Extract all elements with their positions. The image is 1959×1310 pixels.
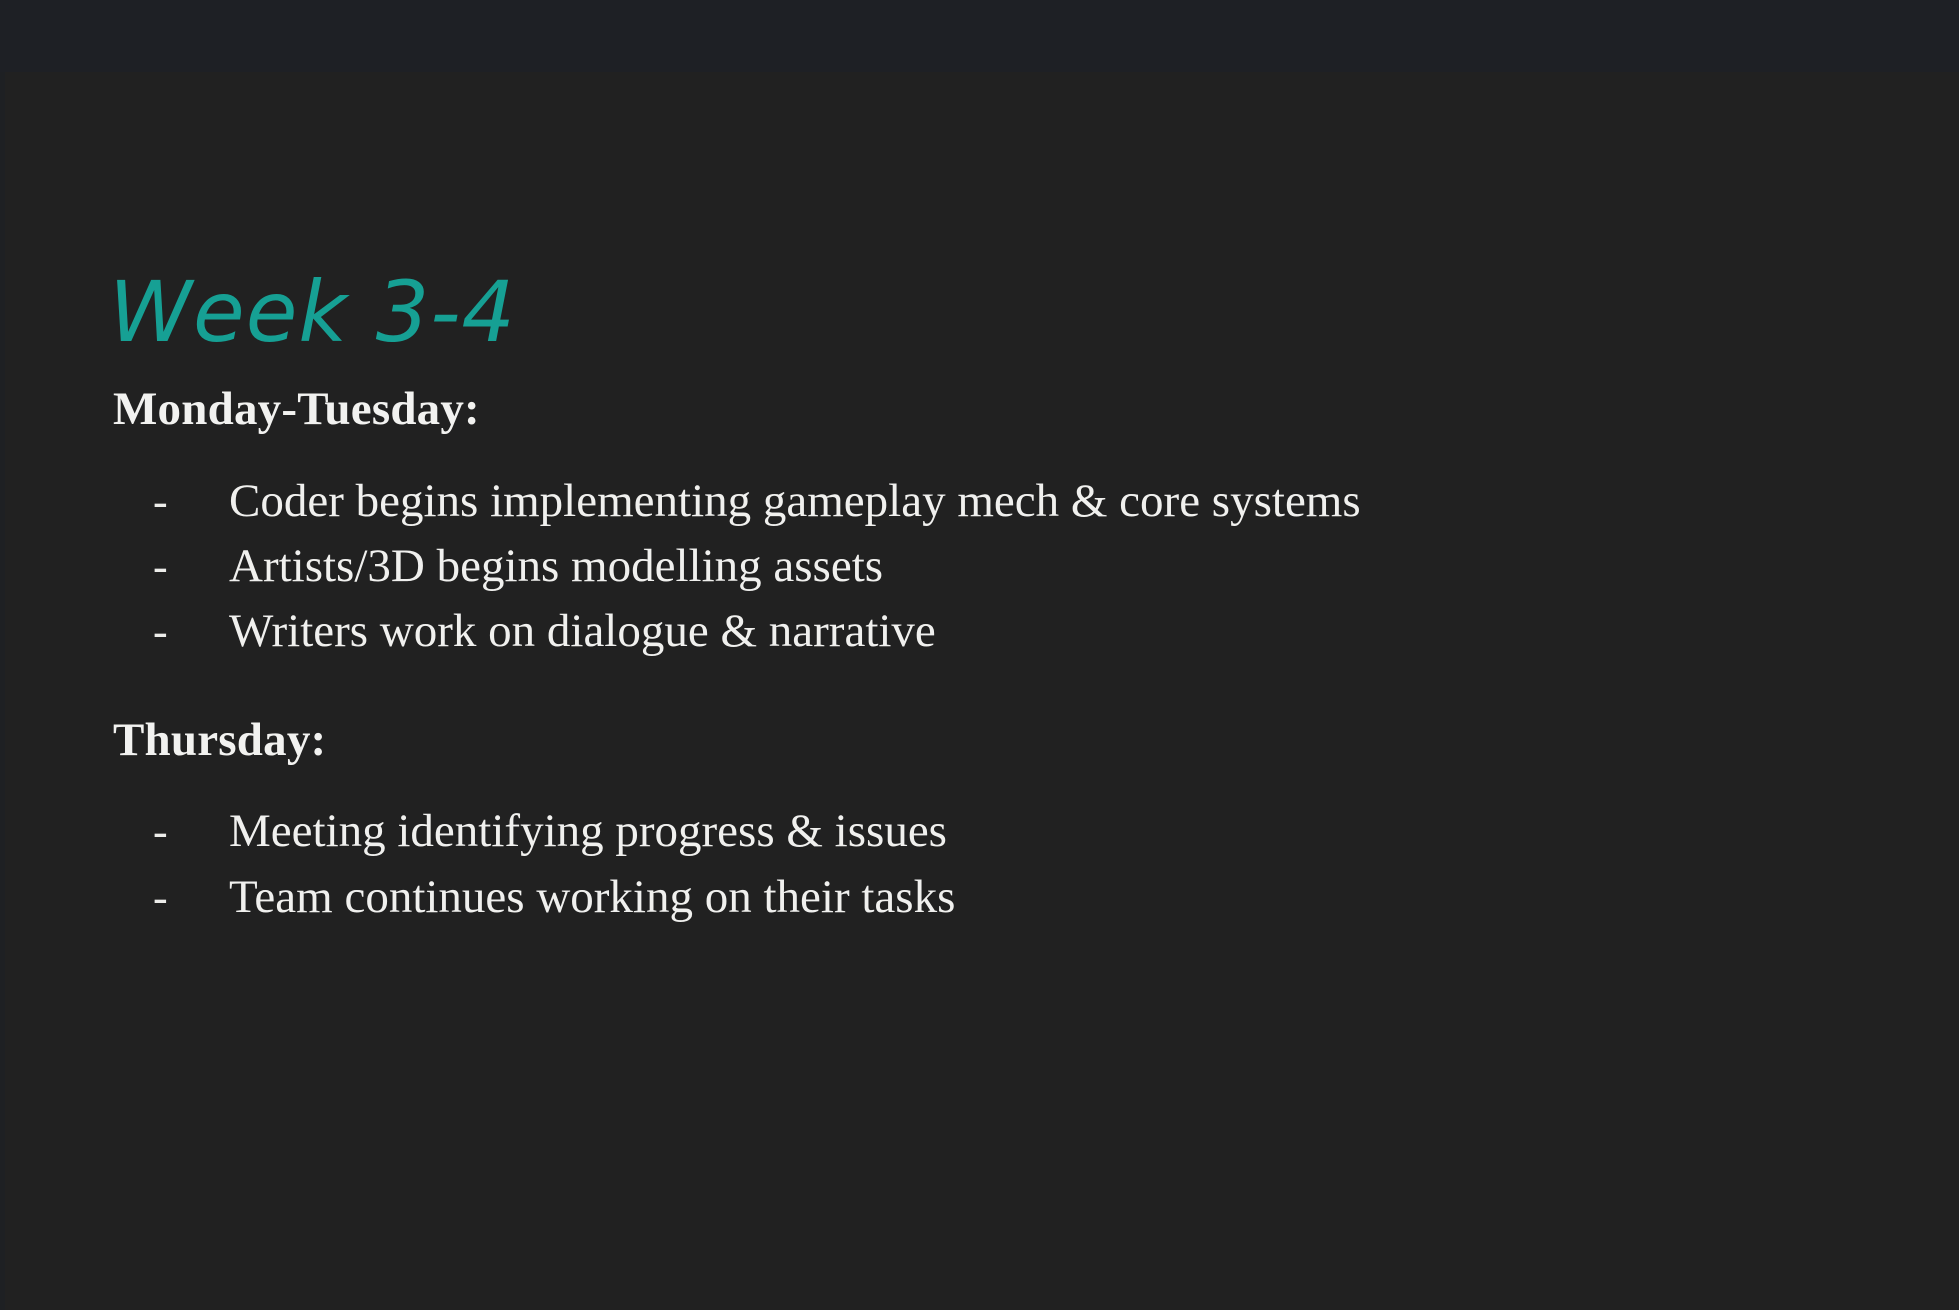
spacer [5, 435, 1959, 469]
list-item-text: Team continues working on their tasks [229, 865, 955, 930]
list-item: - Writers work on dialogue & narrative [5, 599, 1959, 664]
section-heading: Thursday: [5, 715, 1959, 766]
bullet-list: - Coder begins implementing gameplay mec… [5, 469, 1959, 665]
list-item: - Team continues working on their tasks [5, 865, 1959, 930]
list-item: - Meeting identifying progress & issues [5, 799, 1959, 864]
list-item-text: Artists/3D begins modelling assets [229, 534, 883, 599]
bullet-list: - Meeting identifying progress & issues … [5, 799, 1959, 930]
slide-canvas: Week 3-4 Monday-Tuesday: - Coder begins … [5, 72, 1959, 1310]
slide-root: Week 3-4 Monday-Tuesday: - Coder begins … [0, 0, 1959, 1310]
list-item-text: Coder begins implementing gameplay mech … [229, 469, 1361, 534]
slide-title: Week 3-4 [109, 270, 516, 354]
bullet-dash-icon: - [153, 534, 229, 599]
list-item-text: Writers work on dialogue & narrative [229, 599, 936, 664]
bullet-dash-icon: - [153, 799, 229, 864]
section-monday-tuesday: Monday-Tuesday: - Coder begins implement… [5, 384, 1959, 665]
list-item: - Coder begins implementing gameplay mec… [5, 469, 1959, 534]
slide-body: Monday-Tuesday: - Coder begins implement… [5, 384, 1959, 930]
spacer [5, 765, 1959, 799]
spacer [5, 665, 1959, 715]
bullet-dash-icon: - [153, 469, 229, 534]
section-heading: Monday-Tuesday: [5, 384, 1959, 435]
section-thursday: Thursday: - Meeting identifying progress… [5, 715, 1959, 930]
list-item-text: Meeting identifying progress & issues [229, 799, 947, 864]
bullet-dash-icon: - [153, 865, 229, 930]
top-chrome-band [0, 0, 1959, 72]
bullet-dash-icon: - [153, 599, 229, 664]
list-item: - Artists/3D begins modelling assets [5, 534, 1959, 599]
